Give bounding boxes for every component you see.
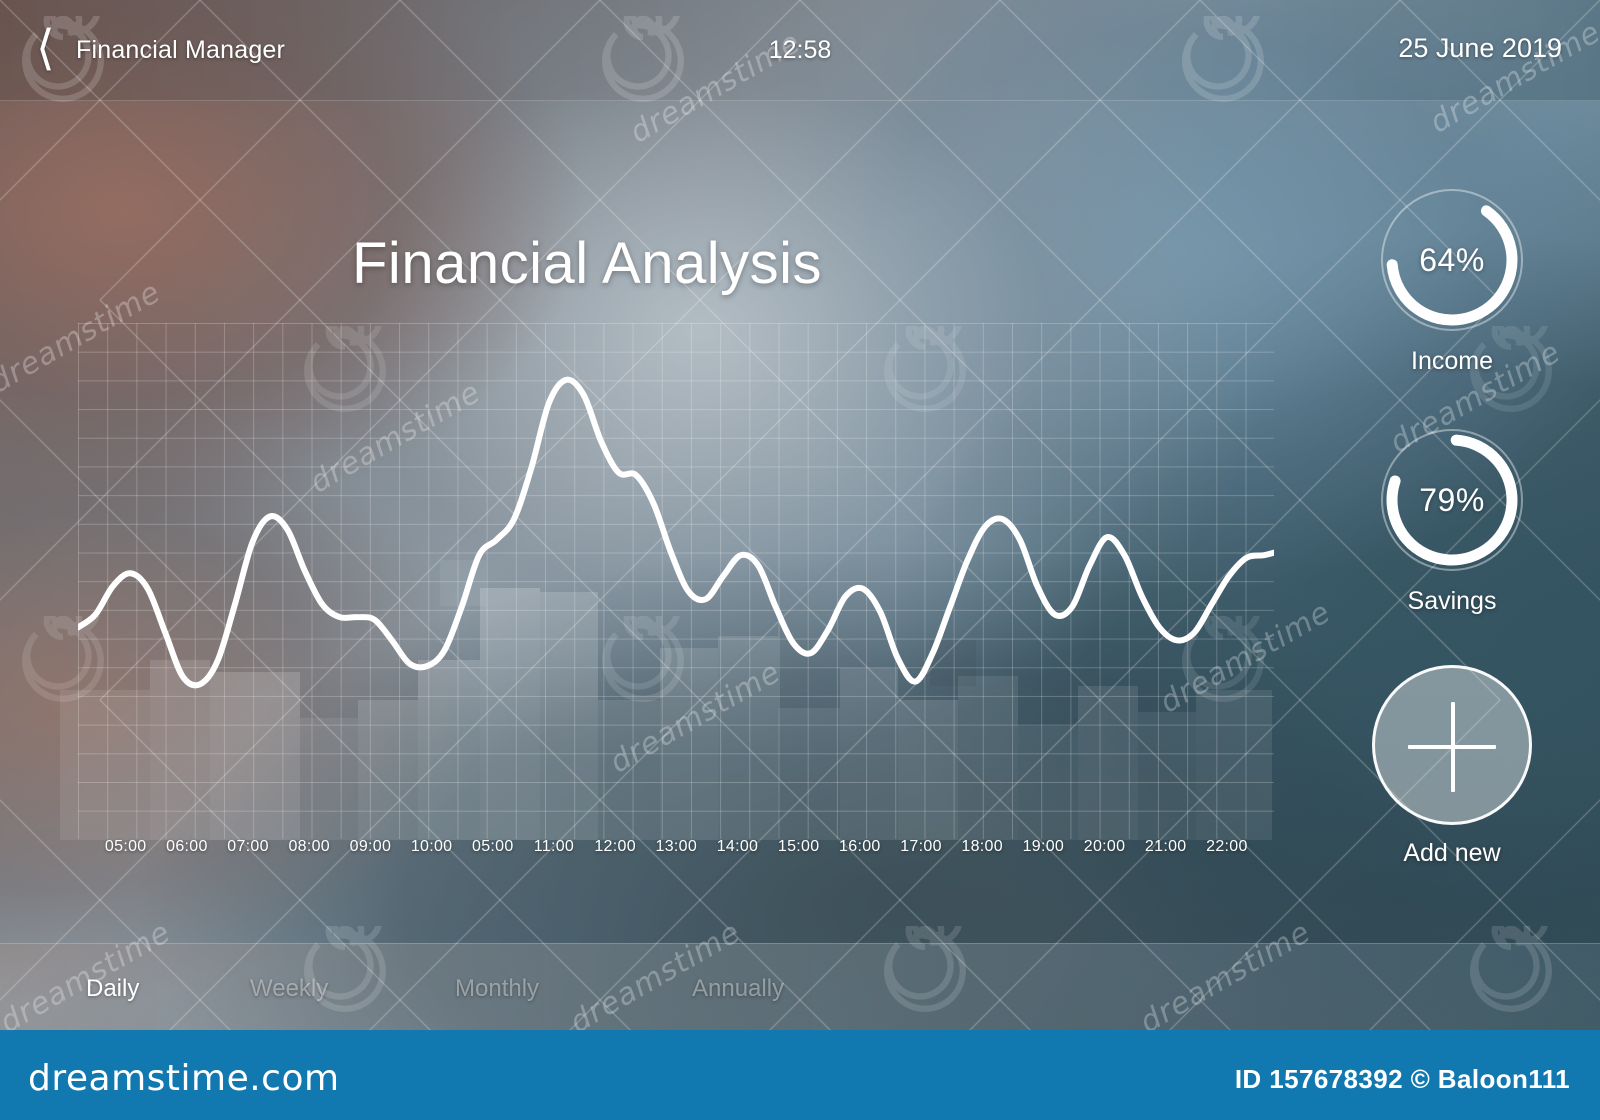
add-new-block: Add new	[1336, 665, 1568, 875]
plus-icon-vertical	[1451, 702, 1455, 792]
current-date: 25 June 2019	[1398, 33, 1562, 64]
x-axis-tick-label: 11:00	[534, 838, 574, 856]
x-axis-tick-label: 18:00	[961, 838, 1003, 856]
line-chart	[78, 323, 1274, 839]
x-axis-tick-label: 16:00	[839, 838, 881, 856]
x-axis-tick-label: 06:00	[166, 838, 208, 856]
financial-manager-screen: ⟨ Financial Manager 12:58 25 June 2019 F…	[0, 0, 1600, 1120]
top-bar: ⟨ Financial Manager 12:58 25 June 2019	[0, 0, 1600, 101]
x-axis-tick-label: 05:00	[472, 838, 514, 856]
page-title: Financial Analysis	[352, 230, 822, 297]
stock-footer: dreamstime.com ID 157678392 © Baloon111	[0, 1030, 1600, 1120]
x-axis-tick-label: 12:00	[594, 838, 636, 856]
dreamstime-logo: dreamstime.com	[28, 1058, 340, 1099]
income-label: Income	[1336, 347, 1568, 376]
tab-annually[interactable]: Annually	[692, 975, 784, 1003]
x-axis-labels: 05:0006:0007:0008:0009:0010:0005:0011:00…	[78, 838, 1274, 866]
savings-value: 79%	[1377, 425, 1527, 575]
x-axis-tick-label: 07:00	[227, 838, 269, 856]
x-axis-tick-label: 14:00	[717, 838, 759, 856]
x-axis-tick-label: 09:00	[350, 838, 392, 856]
metric-income: 64% Income	[1336, 185, 1568, 425]
x-axis-tick-label: 10:00	[411, 838, 453, 856]
tab-weekly[interactable]: Weekly	[250, 975, 328, 1003]
x-axis-tick-label: 19:00	[1023, 838, 1065, 856]
metric-savings: 79% Savings	[1336, 425, 1568, 665]
clock-time: 12:58	[0, 36, 1600, 65]
metrics-rail: 64% Income 79% Savings Add new	[1336, 185, 1568, 875]
x-axis-tick-label: 13:00	[656, 838, 698, 856]
x-axis-tick-label: 22:00	[1206, 838, 1248, 856]
x-axis-tick-label: 17:00	[900, 838, 942, 856]
savings-donut: 79%	[1377, 425, 1527, 575]
x-axis-tick-label: 08:00	[288, 838, 330, 856]
chart-line-svg	[78, 323, 1274, 839]
x-axis-tick-label: 15:00	[778, 838, 820, 856]
x-axis-tick-label: 05:00	[105, 838, 147, 856]
series-balance-path	[78, 380, 1274, 686]
period-tabbar: DailyWeeklyMonthlyAnnually	[0, 943, 1600, 1031]
tab-monthly[interactable]: Monthly	[455, 975, 539, 1003]
tab-daily[interactable]: Daily	[86, 975, 139, 1003]
x-axis-tick-label: 20:00	[1084, 838, 1126, 856]
savings-label: Savings	[1336, 587, 1568, 616]
add-new-label: Add new	[1336, 839, 1568, 868]
image-credit: ID 157678392 © Baloon111	[1235, 1064, 1570, 1095]
add-new-button[interactable]	[1372, 665, 1532, 825]
income-donut: 64%	[1377, 185, 1527, 335]
x-axis-tick-label: 21:00	[1145, 838, 1187, 856]
income-value: 64%	[1377, 185, 1527, 335]
